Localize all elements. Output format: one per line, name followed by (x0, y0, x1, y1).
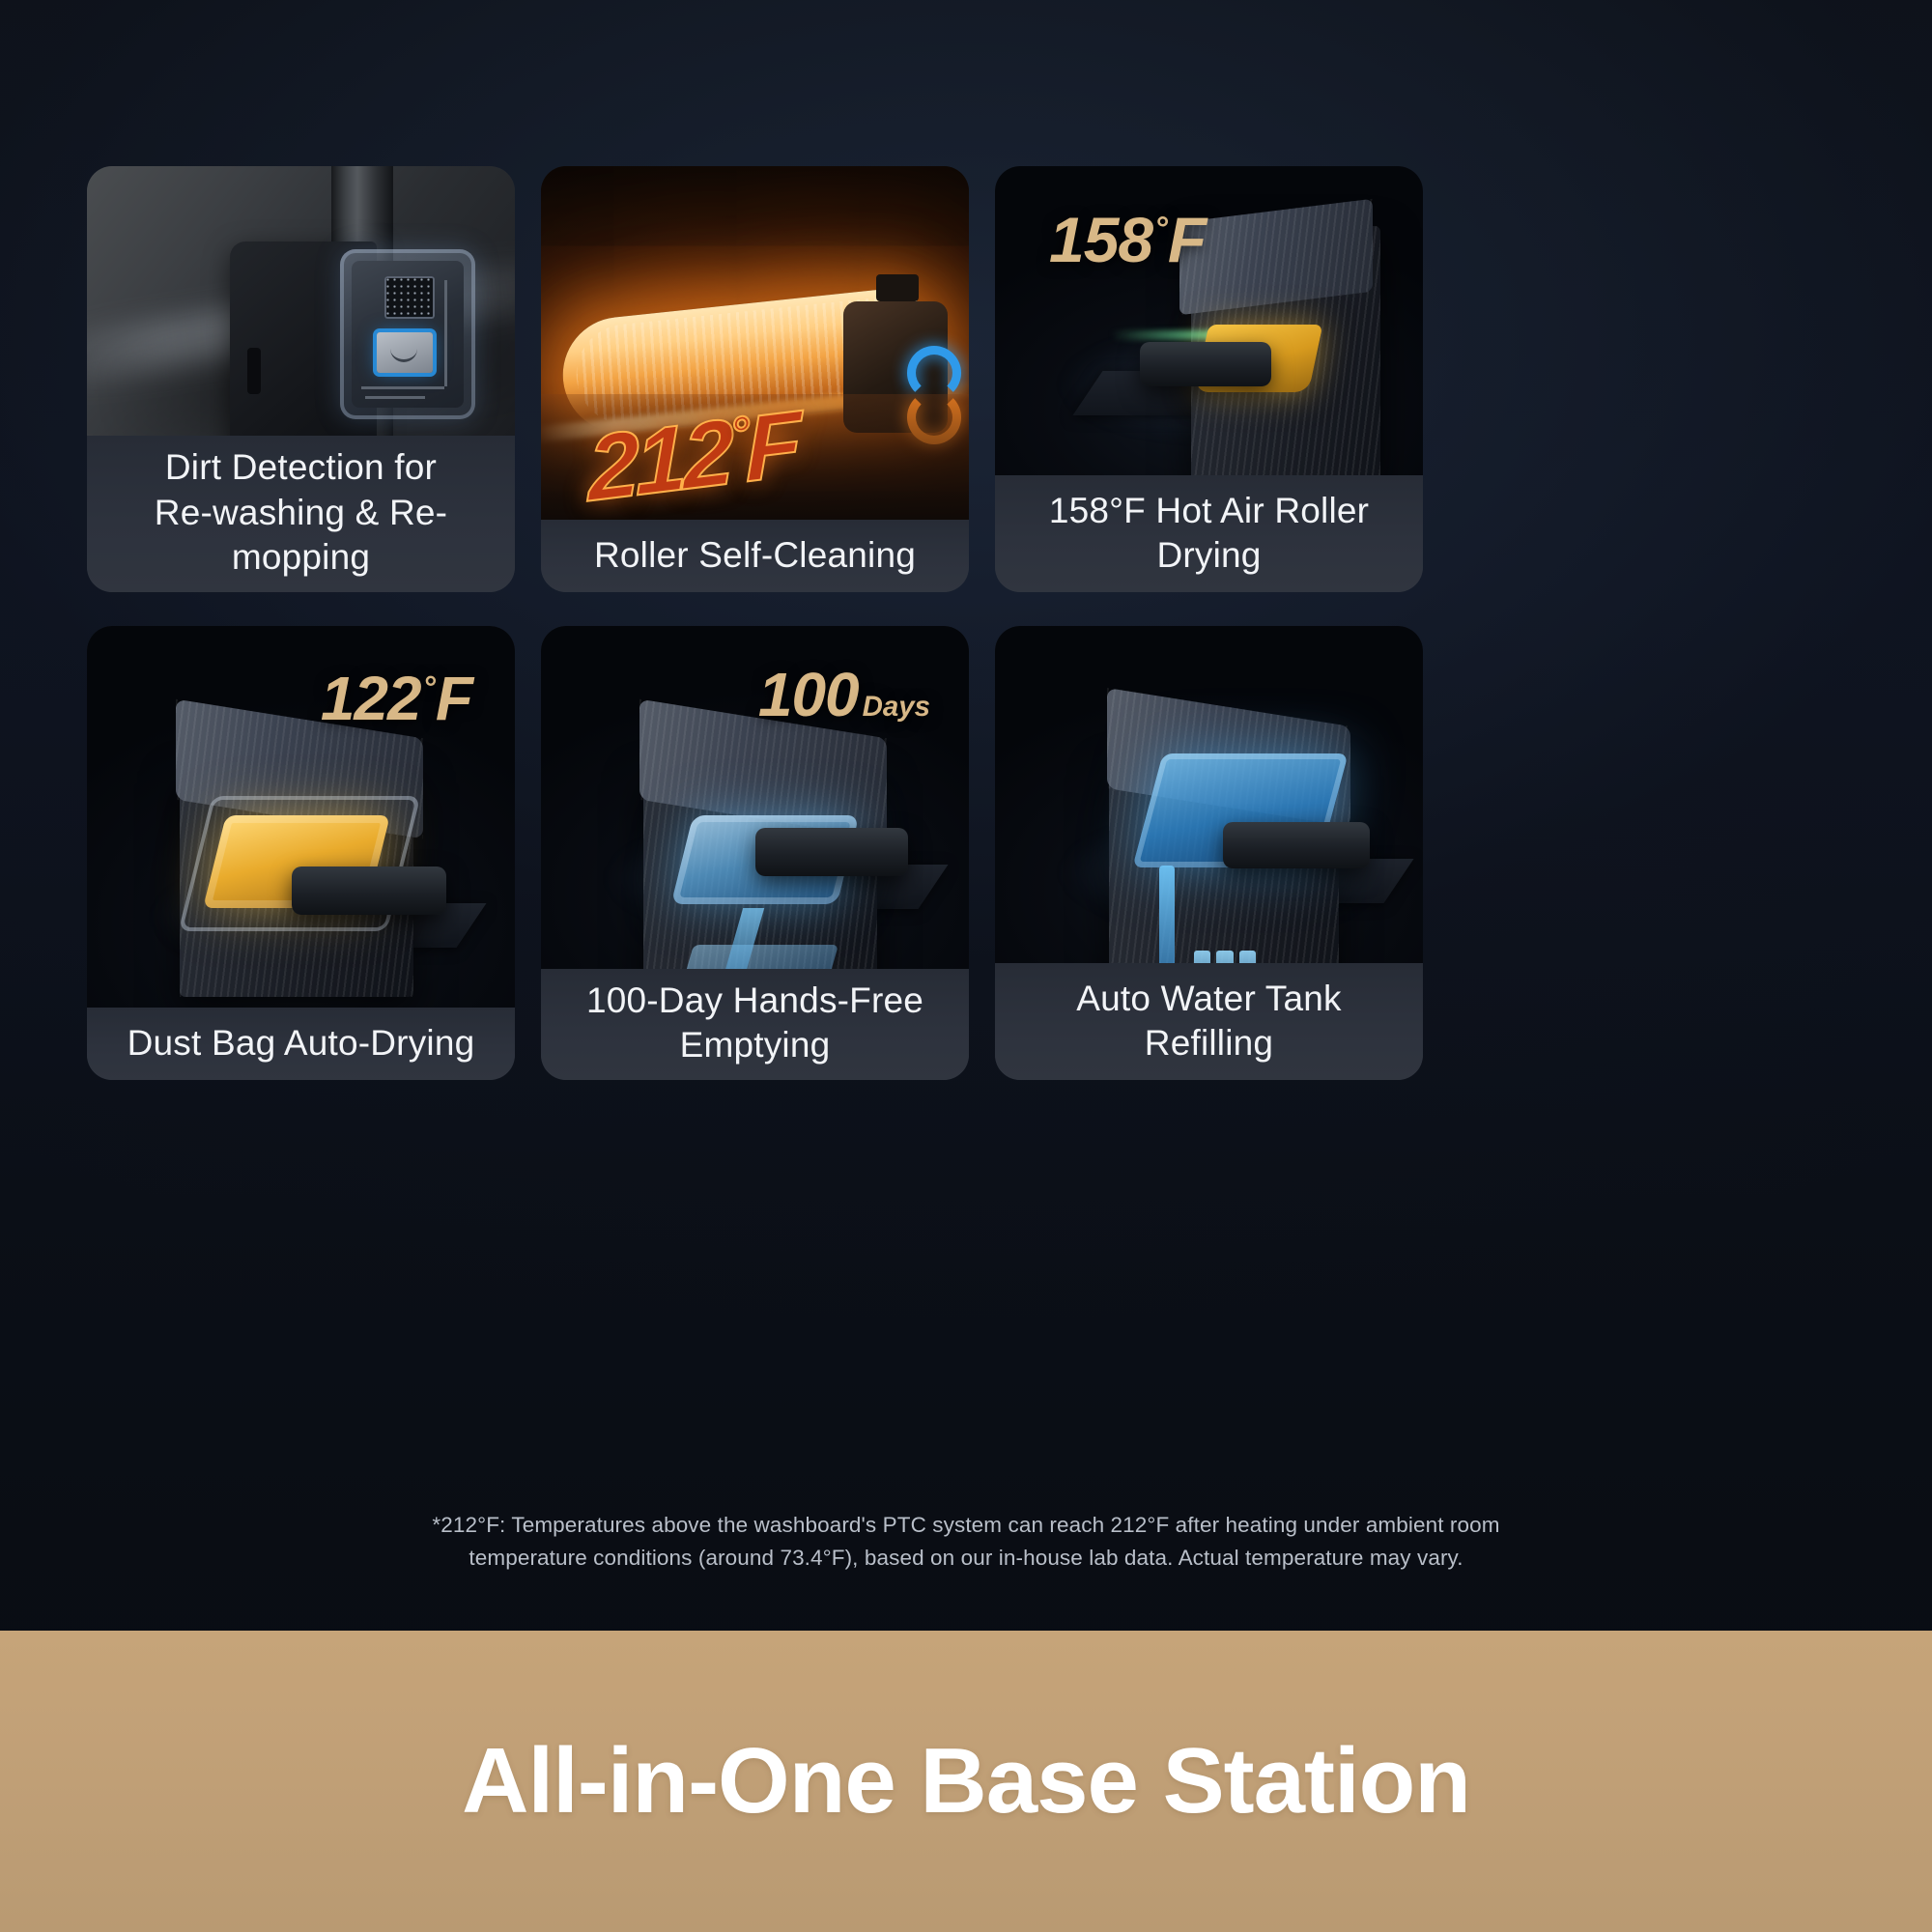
card-caption-hands-free-emptying: 100-Day Hands-Free Emptying (541, 969, 969, 1080)
footnote-line-1: *212°F: Temperatures above the washboard… (299, 1509, 1633, 1542)
caption-line-2: Re-washing & Re-mopping (155, 493, 447, 578)
card-image-dust-bag-auto-drying: 122°F (87, 626, 515, 1008)
robot-vacuum (292, 867, 446, 915)
badge-value: 158 (1049, 204, 1152, 275)
banner-title: All-in-One Base Station (462, 1728, 1470, 1834)
product-feature-page: Dirt Detection for Re-washing & Re-moppi… (0, 0, 1932, 1932)
card-image-hands-free-emptying: 100Days (541, 626, 969, 969)
feature-card-roller-self-cleaning[interactable]: 212°F Roller Self-Cleaning (541, 166, 969, 592)
badge-degree: ° (423, 670, 436, 706)
card-image-dirt-detection (87, 166, 515, 436)
badge-degree: ° (1154, 211, 1168, 247)
dust-transfer-tray (678, 945, 838, 969)
feature-card-dirt-detection[interactable]: Dirt Detection for Re-washing & Re-moppi… (87, 166, 515, 592)
feature-card-grid: Dirt Detection for Re-washing & Re-moppi… (87, 166, 1847, 1080)
water-cell (1239, 951, 1256, 963)
card-image-auto-water-tank-refilling (995, 626, 1423, 963)
robot-vacuum (1223, 822, 1370, 868)
card-caption-dust-bag-auto-drying: Dust Bag Auto-Drying (87, 1008, 515, 1080)
caption-line-1: Dirt Detection for (165, 447, 437, 487)
card-image-hot-air-roller-drying: 158°F (995, 166, 1423, 475)
hub-connector (876, 274, 919, 301)
robot-vacuum (1140, 342, 1271, 386)
badge-value: 122 (321, 664, 421, 733)
caption-line-2: Emptying (680, 1025, 831, 1065)
temperature-badge-158: 158°F (1049, 203, 1206, 276)
caption-line-1: Auto Water Tank Refilling (1010, 977, 1407, 1066)
feature-card-dust-bag-auto-drying[interactable]: 122°F Dust Bag Auto-Drying (87, 626, 515, 1080)
highlighted-sensor-chip-icon (377, 332, 433, 373)
pcb-trace (365, 396, 425, 399)
badge-unit: Days (863, 691, 930, 723)
temperature-badge-122: 122°F (321, 663, 472, 734)
pcb-trace (361, 386, 444, 389)
duration-badge-100-days: 100Days (758, 659, 930, 730)
card-caption-auto-water-tank-refilling: Auto Water Tank Refilling (995, 963, 1423, 1080)
badge-value: 100 (758, 660, 859, 729)
footnote-disclaimer: *212°F: Temperatures above the washboard… (299, 1509, 1633, 1575)
feature-card-hands-free-emptying[interactable]: 100Days 100-Day Hands-Free Emptyin (541, 626, 969, 1080)
caption-line-1: 100-Day Hands-Free (586, 980, 923, 1020)
bottom-banner: All-in-One Base Station (0, 1631, 1932, 1932)
circuit-board (352, 261, 464, 408)
badge-unit: F (1168, 204, 1206, 275)
feature-card-auto-water-tank-refilling[interactable]: Auto Water Tank Refilling (995, 626, 1423, 1080)
robot-vacuum (755, 828, 908, 876)
badge-unit: F (745, 391, 799, 501)
grid-chip-icon (384, 276, 435, 319)
card-caption-roller-self-cleaning: Roller Self-Cleaning (541, 520, 969, 592)
badge-unit: F (436, 664, 472, 733)
badge-value: 212 (587, 400, 731, 520)
card-caption-dirt-detection: Dirt Detection for Re-washing & Re-moppi… (87, 436, 515, 592)
feature-card-hot-air-roller-drying[interactable]: 158°F 158°F Hot Air Roller Drying (995, 166, 1423, 592)
water-level-cells (1194, 951, 1256, 963)
footnote-line-2: temperature conditions (around 73.4°F), … (299, 1542, 1633, 1575)
card-image-roller-self-cleaning: 212°F (541, 166, 969, 520)
caption-line-1: Dust Bag Auto-Drying (128, 1021, 475, 1066)
badge-degree: ° (729, 406, 746, 462)
pcb-trace (444, 280, 447, 386)
water-cell (1216, 951, 1233, 963)
caption-line-1: Roller Self-Cleaning (594, 533, 916, 579)
water-cell (1194, 951, 1210, 963)
caption-line-1: 158°F Hot Air Roller Drying (1010, 489, 1407, 579)
card-caption-hot-air-roller-drying: 158°F Hot Air Roller Drying (995, 475, 1423, 592)
water-flow-pipe-vertical (1159, 866, 1175, 963)
dirt-detection-sensor (340, 249, 475, 419)
